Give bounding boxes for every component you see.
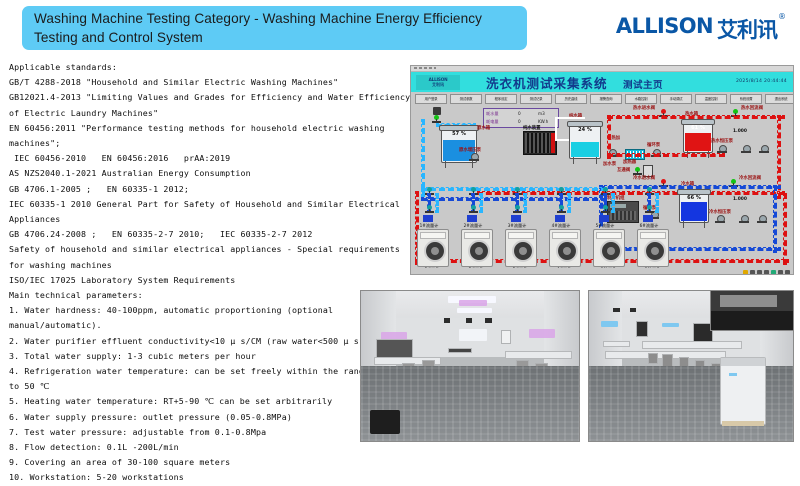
pump-cold-spare-1 xyxy=(739,215,749,224)
scada-tab-8[interactable]: 温度控制 xyxy=(695,94,727,104)
station-1-flowmeter-icon xyxy=(423,215,433,222)
pipe-pure-riser xyxy=(555,117,557,141)
spec-line-3: of Electric Laundry Machines" xyxy=(9,106,409,121)
setpoint-hot: 1.000 xyxy=(733,129,747,134)
readout-0-label: 耗水量 xyxy=(486,111,499,117)
spec-line-6: IEC 60456-2010 EN 60456:2016 prAA:2019 xyxy=(9,151,409,166)
station-6-flowmeter-icon xyxy=(643,215,653,222)
tray-warning-icon[interactable] xyxy=(743,270,748,275)
readout-1-value: 0 xyxy=(518,119,521,124)
tank-cold-water-pct: 66 % xyxy=(680,195,708,201)
spec-line-19: 3. Total water supply: 1-3 cubic meters … xyxy=(9,349,409,364)
spec-line-5: machines"; xyxy=(9,136,409,151)
pump-cold-spare-2 xyxy=(757,215,767,224)
spec-line-1: GB/T 4288-2018 "Household and Similar El… xyxy=(9,75,409,90)
pump-hot-spare-2 xyxy=(759,145,769,154)
photo-inset xyxy=(710,291,793,331)
tray-settings-icon[interactable] xyxy=(778,270,783,275)
tank-cold-water-legs xyxy=(683,221,705,228)
spec-line-11: GB 4706.24-2008 ; EN 60335-2-7 2010; IEC… xyxy=(9,227,409,242)
inlet-icon xyxy=(433,107,441,115)
spec-line-17: manual/automatic). xyxy=(9,318,409,333)
spec-line-8: GB 4706.1-2005 ; EN 60335-1 2012; xyxy=(9,182,409,197)
spec-line-9: IEC 60335-1 2010 General Part for Safety… xyxy=(9,197,409,212)
scada-statusbar xyxy=(411,268,793,275)
valve-cold-inlet-label: 冷水进水阀 xyxy=(633,175,655,181)
spec-line-26: 9. Covering an area of 30-100 square met… xyxy=(9,455,409,470)
spec-line-13: for washing machines xyxy=(9,258,409,273)
valve-hot-return-label: 热水回流阀 xyxy=(741,105,763,111)
scada-tab-4[interactable]: 历史曲线 xyxy=(555,94,587,104)
spec-line-4: EN 60456:2011 "Performance testing metho… xyxy=(9,121,409,136)
scada-tab-5[interactable]: 报警查询 xyxy=(590,94,622,104)
spec-line-23: 6. Water supply pressure: outlet pressur… xyxy=(9,410,409,425)
scada-tab-7[interactable]: 手动调试 xyxy=(660,94,692,104)
brand-logo: ALLISON 艾利讯 ® xyxy=(616,14,786,44)
loop-cold-bottom xyxy=(599,247,781,251)
pipe-purifier-to-pure xyxy=(555,139,569,141)
loop-cold-top xyxy=(599,185,781,189)
tank-cold-water: 66 % xyxy=(679,191,709,223)
pipe-pure-top xyxy=(555,117,585,119)
scada-tab-0[interactable]: 用户登录 xyxy=(415,94,447,104)
valve-hot-inlet-label: 热水进水阀 xyxy=(633,105,655,111)
brand-name-cn: 艾利讯 xyxy=(717,14,777,44)
pump-cold-constant-pressure xyxy=(715,215,725,224)
pump-hot-spare-1 xyxy=(741,145,751,154)
setpoint-cold: 1.000 xyxy=(733,197,747,202)
spec-line-20: 4. Refrigeration water temperature: can … xyxy=(9,364,409,379)
tank-raw-water-label: 原水箱 xyxy=(477,125,490,131)
tray-network-icon[interactable] xyxy=(750,270,755,275)
water-purifier-unit xyxy=(523,131,557,155)
loop-cold-right xyxy=(773,185,777,253)
pipe-inlet-vertical xyxy=(421,119,425,197)
scada-tab-9[interactable]: 系统设置 xyxy=(730,94,762,104)
tank-pure-water-pct: 24 % xyxy=(570,127,600,133)
pump-raw-booster-label: 原水增压泵 xyxy=(459,147,481,153)
page-title: Washing Machine Testing Category - Washi… xyxy=(22,9,527,47)
scada-timestamp: 2025/8/14 20:44:44 xyxy=(736,79,787,84)
spec-line-18: 2. Water purifier effluent conductivity<… xyxy=(9,334,409,349)
spec-line-21: to 50 ℃ xyxy=(9,379,409,394)
spec-line-12: Safety of household and similar electric… xyxy=(9,242,409,257)
scada-title: 洗衣机测试采集系统 xyxy=(486,73,608,92)
chiller-label: 制冷机组 xyxy=(607,195,625,201)
pump-circulation-hot-label: 循环泵 xyxy=(647,142,660,148)
scada-logo: ALLISON 艾利讯 xyxy=(416,75,460,90)
scada-process-diagram: 耗水量 0 m3 耗电量 0 KW.h 57 % 原水箱 原水增压泵 xyxy=(411,105,793,275)
spec-line-25: 8. Flow detection: 0.1L -200L/min xyxy=(9,440,409,455)
scada-logo-cn: 艾利讯 xyxy=(432,82,444,88)
scada-subtitle: 测试主页 xyxy=(623,77,663,91)
lab-photo-trolley xyxy=(588,290,794,442)
specification-text: Applicable standards:GB/T 4288-2018 "Hou… xyxy=(9,60,409,486)
lab-photo-front xyxy=(360,290,580,442)
tank-pure-water: 24 % xyxy=(569,123,601,159)
scada-tab-10[interactable]: 退出系统 xyxy=(765,94,794,104)
brand-name-en: ALLISON xyxy=(616,14,713,38)
scada-tab-1[interactable]: 测试参数 xyxy=(450,94,482,104)
tank-raw-water-legs xyxy=(445,161,473,168)
pump-feed-label: 加水泵 xyxy=(603,161,616,167)
trademark-icon: ® xyxy=(778,12,786,21)
valve-cold-return-label: 冷水回流阀 xyxy=(739,175,761,181)
valve-inlet xyxy=(432,115,441,122)
scada-tab-3[interactable]: 测试记录 xyxy=(520,94,552,104)
loop-hot-top xyxy=(607,115,785,119)
title-banner: Washing Machine Testing Category - Washi… xyxy=(22,6,527,50)
spec-line-10: Appliances xyxy=(9,212,409,227)
loop-hot-mid xyxy=(607,153,725,157)
spec-line-16: 1. Water hardness: 40-100ppm, automatic … xyxy=(9,303,409,318)
station-4-flowmeter-icon xyxy=(555,215,565,222)
tray-volume-icon[interactable] xyxy=(757,270,762,275)
loop-hot-right-drop xyxy=(783,193,787,265)
tank-pure-water-legs xyxy=(573,157,597,164)
spec-line-7: AS NZS2040.1-2021 Australian Energy Cons… xyxy=(9,166,409,181)
scada-tray-icons xyxy=(743,270,790,275)
spec-line-22: 5. Heating water temperature: RT+5-90 ℃ … xyxy=(9,394,409,409)
station-2-flowmeter-icon xyxy=(467,215,477,222)
tray-status-icon[interactable] xyxy=(771,270,776,275)
tank-hot-water: 61 % xyxy=(683,121,713,153)
tank-hot-water-pct: 61 % xyxy=(684,125,712,131)
spec-line-27: 10. Workstation: 5-20 workstations xyxy=(9,470,409,485)
tray-expand-icon[interactable] xyxy=(785,270,790,275)
pump-cold-cp-label: 冷水恒压泵 xyxy=(709,209,731,215)
spec-line-24: 7. Test water pressure: adjustable from … xyxy=(9,425,409,440)
scada-screenshot: ALLISON 艾利讯 洗衣机测试采集系统 测试主页 2025/8/14 20:… xyxy=(410,65,794,275)
readout-0-unit: m3 xyxy=(538,111,545,116)
spec-line-14: ISO/IEC 17025 Laboratory System Requirem… xyxy=(9,273,409,288)
water-purifier-label: 纯水装置 xyxy=(523,125,541,131)
heater-label: 加热器 xyxy=(623,159,636,165)
tank-raw-water-pct: 57 % xyxy=(442,131,476,137)
scada-toolbar: 用户登录测试参数程序设定测试记录历史曲线报警查询水路控制手动调试温度控制系统设置… xyxy=(411,92,793,105)
scada-header-bar: ALLISON 艾利讯 洗衣机测试采集系统 测试主页 2025/8/14 20:… xyxy=(411,72,793,92)
spec-line-15: Main technical parameters: xyxy=(9,288,409,303)
readout-1-unit: KW.h xyxy=(538,119,548,124)
consumption-readout-box: 耗水量 0 m3 耗电量 0 KW.h xyxy=(483,108,559,128)
spec-line-0: Applicable standards: xyxy=(9,60,409,75)
valve-interlink-label: 互通阀 xyxy=(617,167,630,173)
readout-0-value: 0 xyxy=(518,111,521,116)
station-3-flowmeter-icon xyxy=(511,215,521,222)
loop-cold-supply xyxy=(421,197,607,201)
spec-line-2: GB12021.4-2013 "Limiting Values and Grad… xyxy=(9,90,409,105)
valve-interlink xyxy=(633,167,642,174)
station-5-flowmeter-icon xyxy=(599,215,609,222)
scada-tab-6[interactable]: 水路控制 xyxy=(625,94,657,104)
pump-hot-cp-label: 热水恒压泵 xyxy=(711,138,733,144)
tray-clock-icon[interactable] xyxy=(764,270,769,275)
page-header: Washing Machine Testing Category - Washi… xyxy=(0,0,800,58)
pump-raw-booster xyxy=(469,153,479,162)
scada-tab-2[interactable]: 程序设定 xyxy=(485,94,517,104)
